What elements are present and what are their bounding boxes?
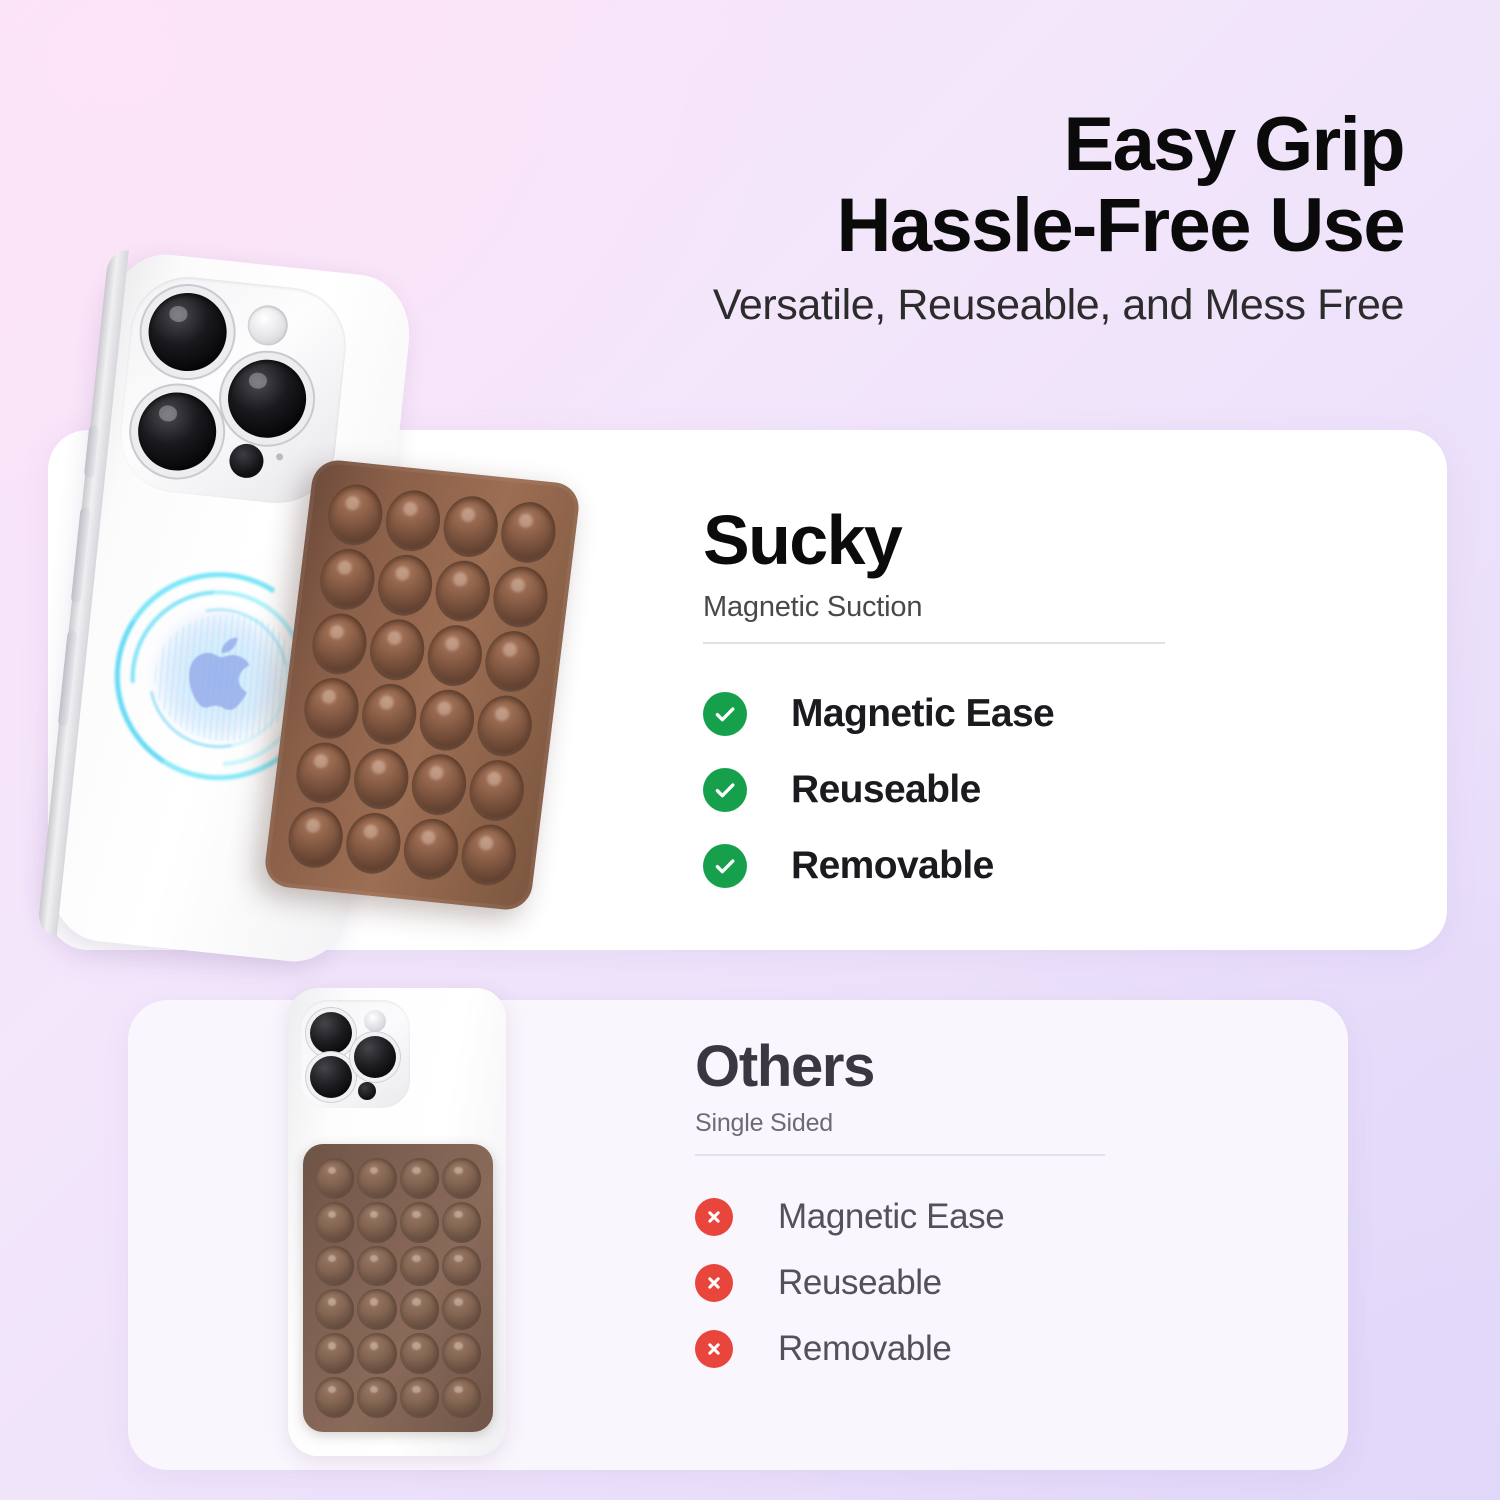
suction-cup: [285, 804, 346, 870]
suction-cup: [343, 810, 404, 876]
suction-cup: [367, 617, 428, 683]
suction-cup: [400, 1202, 439, 1243]
suction-cup: [315, 1158, 354, 1199]
suction-cup: [400, 1289, 439, 1330]
others-text-block: Others Single Sided Magnetic Ease Reusea…: [695, 1038, 1145, 1382]
suction-cup: [400, 1333, 439, 1374]
camera-flash-icon: [364, 1010, 386, 1032]
lidar-sensor-icon: [228, 442, 265, 479]
feature-row: Magnetic Ease: [695, 1184, 1145, 1250]
check-circle-icon: [703, 768, 747, 812]
lidar-sensor-icon: [358, 1082, 376, 1100]
x-circle-icon: [695, 1264, 733, 1302]
suction-cup: [440, 494, 501, 560]
sucky-text-block: Sucky Magnetic Suction Magnetic Ease Reu…: [703, 505, 1173, 904]
feature-row: Reuseable: [703, 752, 1173, 828]
suction-cup: [416, 687, 477, 753]
suction-cup: [357, 1333, 396, 1374]
others-feature-list: Magnetic Ease Reuseable Removable: [695, 1184, 1145, 1382]
others-title: Others: [695, 1038, 1145, 1096]
feature-label: Reuseable: [778, 1263, 942, 1303]
suction-cup: [357, 1202, 396, 1243]
suction-cup: [490, 564, 551, 630]
camera-lens-telephoto-icon: [224, 356, 310, 442]
camera-lens-wide-icon: [310, 1012, 352, 1054]
feature-label: Magnetic Ease: [791, 692, 1054, 736]
suction-cup: [458, 822, 519, 888]
suction-cup: [315, 1333, 354, 1374]
camera-lens-wide-icon: [145, 289, 231, 375]
suction-cup: [432, 558, 493, 624]
suction-cup: [315, 1289, 354, 1330]
headline-subtitle: Versatile, Reuseable, and Mess Free: [504, 281, 1404, 330]
feature-row: Removable: [695, 1316, 1145, 1382]
sucky-product-image: [60, 255, 620, 955]
suction-cup: [442, 1333, 481, 1374]
suction-pad-flat: [303, 1144, 493, 1432]
feature-label: Magnetic Ease: [778, 1197, 1004, 1237]
x-circle-icon: [695, 1198, 733, 1236]
camera-flash-icon: [246, 303, 290, 347]
sucky-title: Sucky: [703, 505, 1173, 575]
suction-cup: [400, 1246, 439, 1287]
suction-cup: [315, 1202, 354, 1243]
camera-module: [300, 1000, 410, 1108]
suction-cup: [382, 488, 443, 554]
check-circle-icon: [703, 692, 747, 736]
suction-cup: [315, 1377, 354, 1418]
suction-cup: [408, 752, 469, 818]
sucky-divider: [703, 642, 1165, 644]
suction-cup: [442, 1377, 481, 1418]
others-subtitle: Single Sided: [695, 1109, 1145, 1138]
sucky-subtitle: Magnetic Suction: [703, 591, 1173, 624]
suction-cup: [351, 746, 412, 812]
microphone-icon: [276, 453, 284, 461]
suction-cup: [482, 629, 543, 695]
feature-row: Magnetic Ease: [703, 676, 1173, 752]
check-circle-icon: [703, 844, 747, 888]
camera-lens-telephoto-icon: [354, 1036, 396, 1078]
feature-label: Removable: [778, 1329, 951, 1369]
suction-cup: [357, 1377, 396, 1418]
suction-cup: [317, 546, 378, 612]
suction-cup: [442, 1202, 481, 1243]
suction-cup: [442, 1246, 481, 1287]
feature-row: Removable: [703, 828, 1173, 904]
feature-label: Removable: [791, 844, 994, 888]
suction-cup: [424, 623, 485, 689]
phone-front-on: [288, 988, 506, 1456]
suction-cup: [293, 740, 354, 806]
suction-cup: [466, 758, 527, 824]
suction-cup: [357, 1158, 396, 1199]
sucky-feature-list: Magnetic Ease Reuseable Removable: [703, 676, 1173, 904]
suction-cup: [301, 675, 362, 741]
feature-label: Reuseable: [791, 768, 981, 812]
suction-cup: [315, 1246, 354, 1287]
headline-line-1: Easy Grip: [504, 104, 1404, 185]
suction-cup: [474, 693, 535, 759]
suction-cup: [400, 816, 461, 882]
suction-cup: [442, 1158, 481, 1199]
suction-cup: [359, 681, 420, 747]
others-product-image: [288, 988, 508, 1458]
camera-lens-ultrawide-icon: [134, 389, 220, 475]
suction-cup: [309, 611, 370, 677]
others-divider: [695, 1154, 1105, 1156]
suction-cup: [400, 1377, 439, 1418]
feature-row: Reuseable: [695, 1250, 1145, 1316]
suction-cup: [357, 1289, 396, 1330]
suction-cup: [442, 1289, 481, 1330]
suction-cup: [374, 552, 435, 618]
suction-cup: [325, 482, 386, 548]
suction-cup: [357, 1246, 396, 1287]
suction-pad-angled: [262, 458, 581, 912]
headline-line-2: Hassle-Free Use: [504, 185, 1404, 266]
camera-lens-ultrawide-icon: [310, 1056, 352, 1098]
suction-cup: [400, 1158, 439, 1199]
suction-cup: [498, 500, 559, 566]
x-circle-icon: [695, 1330, 733, 1368]
header: Easy Grip Hassle-Free Use Versatile, Reu…: [504, 104, 1404, 330]
